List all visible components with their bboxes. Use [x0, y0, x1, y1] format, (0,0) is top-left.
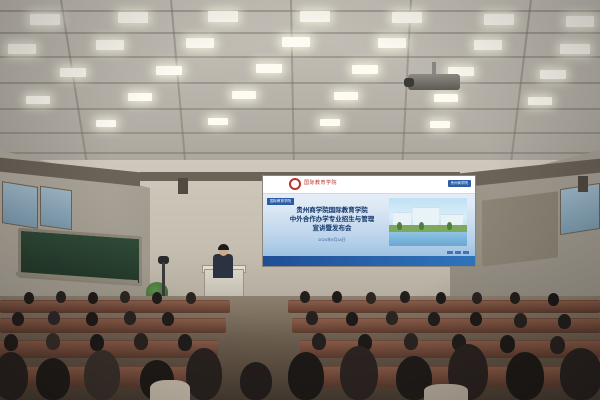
ceiling-light: [30, 14, 60, 25]
lecture-hall-photo: 国际教育学院 贵州商学院 国际教育学院 贵州商学院国际教育学院 中外合作办学专业…: [0, 0, 600, 400]
audience-member: [400, 291, 410, 303]
slide: 国际教育学院 贵州商学院 国际教育学院 贵州商学院国际教育学院 中外合作办学专业…: [263, 176, 475, 266]
seating-row: [292, 318, 600, 333]
ceiling-light: [540, 70, 566, 79]
audience-member: [46, 333, 60, 350]
audience-member: [134, 333, 148, 350]
audience-member: [300, 291, 310, 303]
projector-lens: [404, 78, 414, 87]
ceiling: [0, 0, 600, 178]
audience-member: [470, 312, 482, 326]
audience-member: [56, 291, 66, 303]
audience-member: [500, 335, 515, 353]
audience-member: [24, 292, 34, 304]
slide-logo-text: 国际教育学院: [304, 179, 337, 186]
audience-member-foreground: [560, 348, 600, 400]
seating-row: [0, 318, 226, 333]
audience-member-foreground: [506, 352, 544, 400]
projector-icon: [408, 74, 460, 90]
audience-member-foreground: [288, 352, 324, 400]
slide-title-block: 贵州商学院国际教育学院 中外合作办学专业招生与管理 宣讲暨发布会 2024年9月…: [273, 206, 391, 243]
audience-member: [332, 291, 342, 303]
audience-member: [366, 292, 376, 304]
audience-member: [48, 311, 60, 325]
audience-member: [312, 333, 326, 350]
ceiling-light: [474, 40, 502, 50]
ceiling-light: [378, 38, 406, 48]
ceiling-light: [528, 97, 552, 105]
projection-screen: 国际教育学院 贵州商学院 国际教育学院 贵州商学院国际教育学院 中外合作办学专业…: [262, 175, 476, 267]
audience-member-foreground: [150, 380, 190, 400]
audience-member-foreground: [186, 348, 222, 400]
audience-member: [4, 334, 18, 351]
slide-title-line-3: 宣讲暨发布会: [273, 224, 391, 233]
slide-title-line-1: 贵州商学院国际教育学院: [273, 206, 391, 215]
ceiling-light: [156, 66, 182, 75]
seating-row: [0, 300, 230, 313]
audience-member: [152, 292, 162, 304]
ceiling-light: [186, 38, 214, 48]
audience-member: [346, 312, 358, 326]
audience-member: [404, 333, 418, 350]
ceiling-light: [300, 11, 330, 22]
audience-member: [548, 293, 559, 306]
ceiling-light: [430, 121, 450, 128]
ceiling-light: [560, 44, 590, 54]
slide-bottom-bar: [263, 256, 475, 266]
ceiling-light: [256, 64, 282, 73]
audience-member: [12, 312, 24, 326]
window-left: [2, 181, 38, 229]
audience-member: [436, 292, 446, 304]
ceiling-tile-grid: [0, 0, 600, 178]
audience-member-foreground: [424, 384, 468, 400]
audience-member: [88, 292, 98, 304]
wall-speaker-right: [578, 176, 588, 192]
audience-member: [178, 334, 192, 351]
ceiling-light: [96, 120, 116, 127]
slide-title-line-2: 中外合作办学专业招生与管理: [273, 215, 391, 224]
audience-member-foreground: [240, 362, 272, 400]
audience-member: [120, 291, 130, 303]
audience-member: [550, 336, 565, 354]
ceiling-light: [434, 94, 458, 102]
ceiling-light: [208, 118, 228, 125]
window-left: [40, 186, 72, 230]
audience-member: [558, 314, 571, 329]
ceiling-light: [118, 12, 148, 23]
audience-member: [428, 312, 440, 326]
ceiling-light: [484, 14, 514, 25]
ceiling-light: [352, 65, 378, 74]
institute-logo-icon: [289, 178, 301, 190]
audience-member: [514, 313, 527, 328]
ceiling-light: [60, 68, 86, 77]
ceiling-light: [392, 12, 422, 23]
ceiling-light: [320, 119, 340, 126]
audience-member: [86, 312, 98, 326]
slide-left-tag: 国际教育学院: [267, 198, 294, 205]
presenter-body: [213, 254, 233, 278]
audience-member: [186, 292, 196, 304]
audience-member-foreground: [36, 358, 70, 400]
ceiling-light: [96, 40, 124, 50]
wall-panel-right: [482, 191, 558, 266]
wall-speaker-left: [178, 178, 188, 194]
ceiling-light: [232, 91, 256, 99]
audience-member: [472, 292, 482, 304]
ceiling-light: [566, 16, 594, 27]
audience-member: [90, 334, 104, 351]
slide-progress-ticks: [447, 251, 469, 254]
slide-subtitle: 2024年9月18日: [273, 237, 391, 243]
ceiling-light: [128, 93, 152, 101]
audience-member-foreground: [340, 346, 378, 400]
ceiling-light: [208, 11, 238, 22]
audience-member-foreground: [84, 350, 120, 400]
audience-member: [386, 311, 398, 325]
ceiling-light: [282, 37, 310, 47]
slide-top-right-badge: 贵州商学院: [448, 180, 472, 187]
audience-member: [306, 311, 318, 325]
presenter-hair: [218, 244, 229, 250]
slide-campus-photo: [389, 198, 467, 246]
audience-member: [510, 292, 520, 304]
audience-member: [162, 312, 174, 326]
ceiling-light: [334, 92, 358, 100]
audience-member: [124, 311, 136, 325]
ceiling-light: [8, 44, 36, 54]
ceiling-light: [26, 96, 50, 104]
